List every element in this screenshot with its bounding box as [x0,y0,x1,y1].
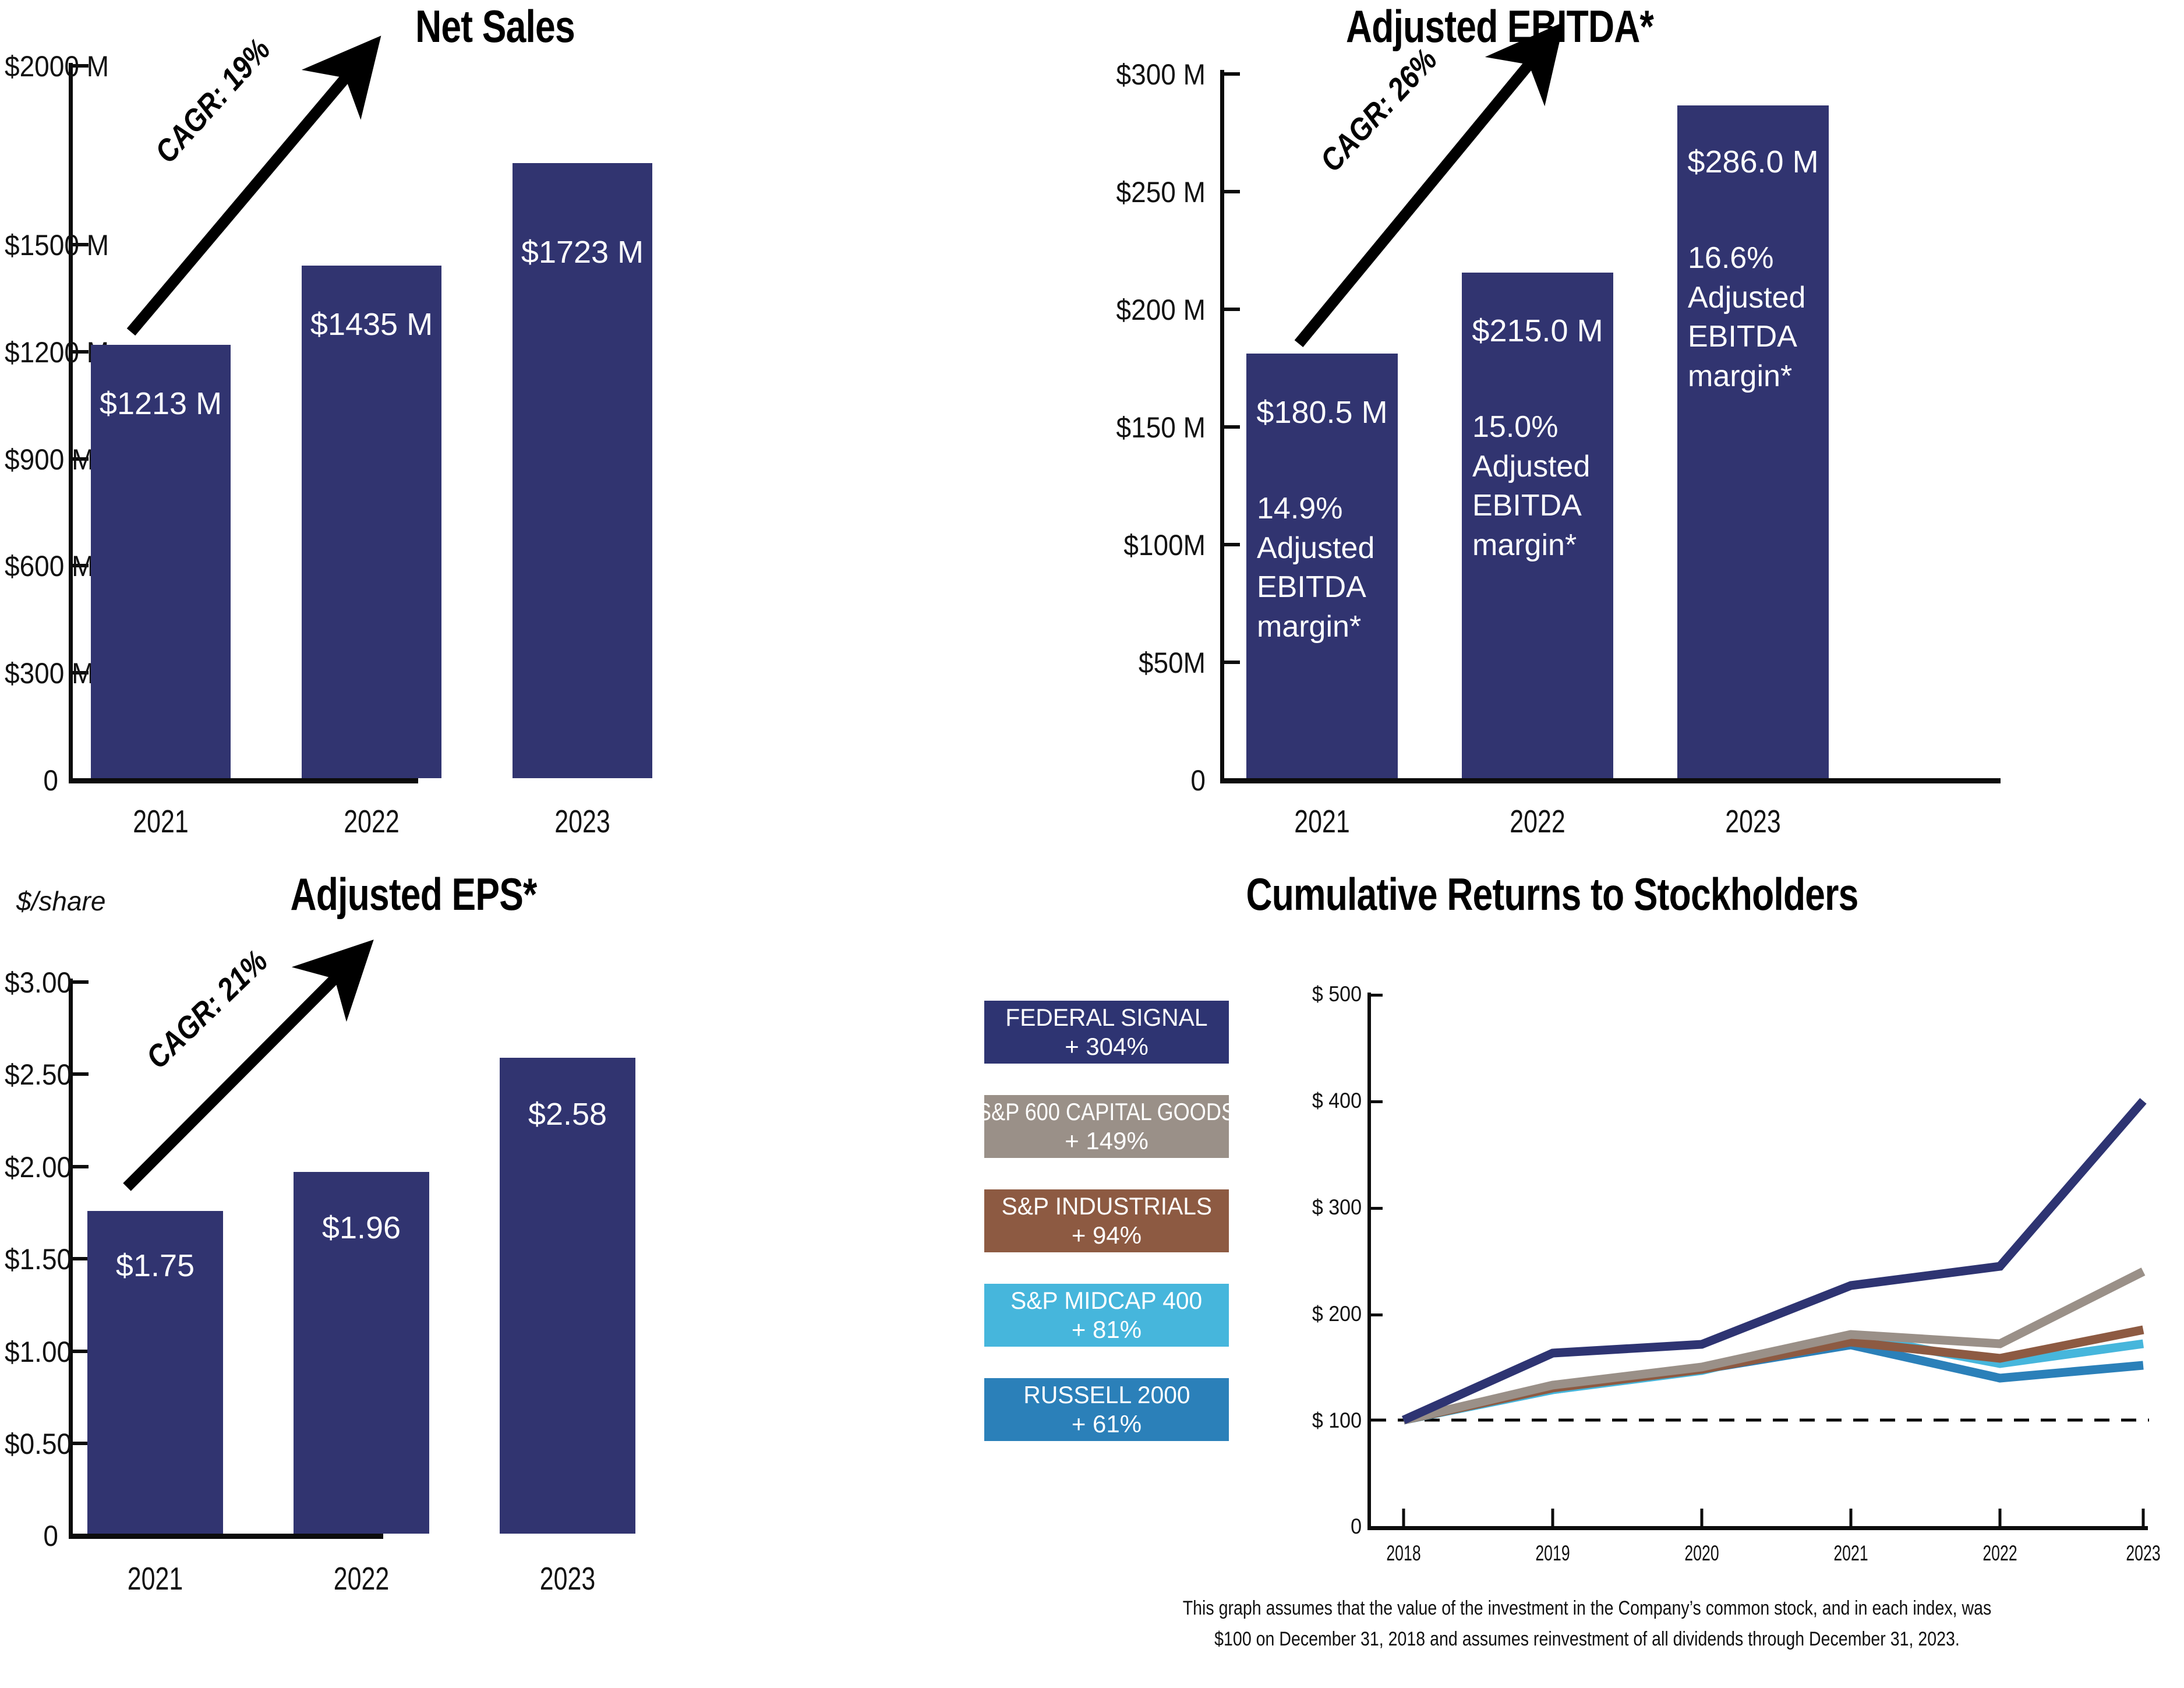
legend-pct: + 61% [1072,1410,1142,1439]
cagr-arrow [0,0,990,815]
footnote-line-2: $100 on December 31, 2018 and assumes re… [1086,1624,2088,1655]
adjusted-eps-plot: $3.00 $2.50 $2.00 $1.50 $1.00 $0.50 0 $1… [0,868,990,1683]
legend-label: RUSSELL 2000 [1023,1380,1190,1410]
returns-lines [1299,868,2184,1596]
x-tick-label-2019: 2019 [1519,1541,1586,1566]
adjusted-ebitda-plot: $300 M $250 M $200 M $150 M $100M $50M 0… [1077,0,2068,815]
returns-line-plot: $ 500 $ 400 $ 300 $ 200 $ 100 0 [1299,868,2184,1596]
returns-footnote: This graph assumes that the value of the… [1086,1593,2088,1654]
legend-item-federal-signal[interactable]: FEDERAL SIGNAL + 304% [984,1001,1229,1064]
footnote-line-1: This graph assumes that the value of the… [1086,1593,2088,1624]
cagr-arrow [1077,0,2068,815]
x-tick-label-2018: 2018 [1370,1541,1437,1566]
net-sales-plot: $2000 M $1500 M $1200 M $900 M $600 M $3… [0,0,990,815]
legend-label: S&P 600 CAPITAL GOODS [978,1097,1236,1126]
panel-cumulative-returns: Cumulative Returns to Stockholders FEDER… [990,868,2184,1683]
x-tick-label-2021: 2021 [1817,1541,1884,1566]
legend-label: S&P INDUSTRIALS [1001,1192,1211,1221]
legend-item-sp-industrials[interactable]: S&P INDUSTRIALS + 94% [984,1189,1229,1252]
legend-label: FEDERAL SIGNAL [1005,1003,1207,1032]
panel-net-sales: Net Sales $2000 M $1500 M $1200 M $900 M… [0,0,990,862]
legend-pct: + 81% [1072,1315,1142,1344]
legend-item-sp-midcap-400[interactable]: S&P MIDCAP 400 + 81% [984,1284,1229,1347]
legend-label: S&P MIDCAP 400 [1010,1286,1202,1315]
cagr-arrow [0,868,990,1683]
legend-item-russell-2000[interactable]: RUSSELL 2000 + 61% [984,1378,1229,1441]
panel-adjusted-eps: Adjusted EPS* $/share $3.00 $2.50 $2.00 … [0,868,990,1683]
panel-adjusted-ebitda: Adjusted EBITDA* $300 M $250 M $200 M $1… [1077,0,2068,862]
x-tick-label-2022: 2022 [1966,1541,2033,1566]
x-tick-label-2023: 2023 [2109,1541,2176,1566]
legend-pct: + 304% [1065,1032,1148,1061]
legend-pct: + 149% [1065,1126,1148,1156]
legend-item-sp600-capital-goods[interactable]: S&P 600 CAPITAL GOODS + 149% [984,1095,1229,1158]
legend-pct: + 94% [1072,1221,1142,1250]
x-tick-label-2020: 2020 [1668,1541,1735,1566]
series-sp600-capital-goods [1404,1272,2143,1420]
